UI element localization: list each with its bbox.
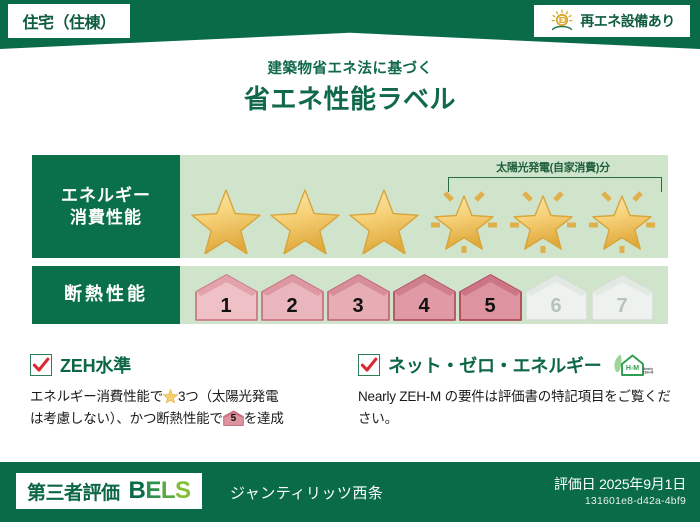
insulation-grade-value: 1 [220, 296, 231, 316]
bels-energy-label: 住宅（住棟） 再エネ設備あり 建築物省エネ法に基づく 省エネ性能ラベル [0, 0, 700, 522]
star-filled [190, 180, 262, 254]
insulation-performance-row: 断熱性能 1 2 [32, 266, 668, 324]
zeh-standard-body: エネルギー消費性能で3つ（太陽光発電は考慮しない）、かつ断熱性能で5を達成 [30, 386, 350, 430]
star-filled-solar [586, 180, 658, 254]
third-party-evaluation-label: 第三者評価 [27, 478, 120, 505]
evaluation-id: 131601e8-d42a-4bf9 [585, 495, 686, 507]
bels-letter-s: S [175, 477, 191, 504]
label-title-block: 建築物省エネ法に基づく 省エネ性能ラベル [0, 62, 700, 112]
energy-label-line1: エネルギー [61, 185, 151, 207]
solar-bracket-label: 太陽光発電(自家消費)分 [438, 159, 668, 175]
label-subtitle: 建築物省エネ法に基づく [0, 62, 700, 77]
insulation-grade-badge: 1 [194, 272, 259, 322]
star-filled [269, 180, 341, 254]
insulation-grade-value: 7 [616, 296, 627, 316]
energy-performance-label: エネルギー 消費性能 [32, 155, 180, 258]
net-zero-energy-heading: ネット・ゼロ・エネルギー H-M Nearly ZEH-M [358, 352, 674, 378]
star-filled-solar [428, 180, 500, 254]
zeh-body-part1: エネルギー消費性能で [30, 389, 163, 404]
insulation-grade-badge-inactive: 7 [590, 272, 655, 322]
energy-label-line2: 消費性能 [61, 207, 151, 229]
star-filled-solar [507, 180, 579, 254]
insulation-grade-badge-achieved: 5 [458, 272, 523, 322]
energy-rating-panel: 太陽光発電(自家消費)分 [180, 155, 668, 258]
insulation-grade-inline-badge: 5 [223, 410, 244, 426]
checkmark-icon [358, 354, 380, 376]
bels-certification-chip: 第三者評価 BELS [16, 473, 202, 509]
insulation-grade-badge: 2 [260, 272, 325, 322]
renewable-equipment-label: 再エネ設備あり [580, 11, 675, 31]
insulation-grade-value: 6 [550, 296, 561, 316]
net-zero-energy-body: Nearly ZEH-M の要件は評価書の特記項目をご覧ください。 [358, 386, 674, 430]
zehm-mark-sub-line2: ZEH-M [642, 371, 653, 375]
page-title: 省エネ性能ラベル [0, 86, 700, 112]
insulation-grade-value: 3 [352, 296, 363, 316]
building-type-chip: 住宅（住棟） [8, 4, 130, 38]
bels-letter-l: L [161, 477, 175, 504]
insulation-grade-scale: 1 2 3 [180, 266, 668, 324]
net-zero-energy-title: ネット・ゼロ・エネルギー [388, 352, 602, 378]
renewable-equipment-badge: 再エネ設備あり [534, 5, 690, 37]
zeh-standard-block: ZEH水準 エネルギー消費性能で3つ（太陽光発電は考慮しない）、かつ断熱性能で5… [30, 352, 350, 430]
insulation-grade-badge: 4 [392, 272, 457, 322]
insulation-grade-value: 5 [484, 296, 495, 316]
insulation-performance-label: 断熱性能 [32, 266, 180, 324]
evaluation-date: 評価日 2025年9月1日 [554, 474, 686, 494]
zeh-body-part2: は考慮しない）、かつ断熱性能で [30, 411, 223, 426]
building-name: ジャンティリッツ西条 [230, 482, 383, 503]
zehm-mark-text: H-M [626, 365, 639, 372]
insulation-grade-badge-inactive: 6 [524, 272, 589, 322]
checkmark-icon [30, 354, 52, 376]
label-footer: 第三者評価 BELS ジャンティリッツ西条 評価日 2025年9月1日 1316… [0, 462, 700, 522]
zeh-body-stars: 3つ（太陽光発電 [178, 389, 278, 404]
insulation-grade-inline-value: 5 [223, 410, 244, 426]
insulation-grade-value: 2 [286, 296, 297, 316]
bels-letter-b: B [129, 477, 146, 504]
nearly-zeh-m-house-icon: H-M Nearly ZEH-M [612, 352, 654, 378]
zeh-standard-heading: ZEH水準 [30, 352, 350, 378]
solar-sun-icon [549, 9, 575, 33]
star-filled [348, 180, 420, 254]
insulation-grade-value: 4 [418, 296, 429, 316]
building-type-label: 住宅（住棟） [22, 9, 115, 33]
zeh-standard-title: ZEH水準 [60, 352, 131, 378]
zeh-body-part3: を達成 [244, 411, 284, 426]
energy-performance-row: エネルギー 消費性能 太陽光発電(自家消費)分 [32, 155, 668, 258]
bels-letter-e: E [145, 477, 161, 504]
insulation-grade-badge: 3 [326, 272, 391, 322]
insulation-grade-panel: 1 2 3 [180, 266, 668, 324]
bels-logo: BELS [129, 479, 191, 503]
star-inline-icon [163, 388, 178, 403]
net-zero-energy-block: ネット・ゼロ・エネルギー H-M Nearly ZEH-M Nearly ZEH… [358, 352, 674, 430]
energy-star-rating [180, 180, 668, 254]
